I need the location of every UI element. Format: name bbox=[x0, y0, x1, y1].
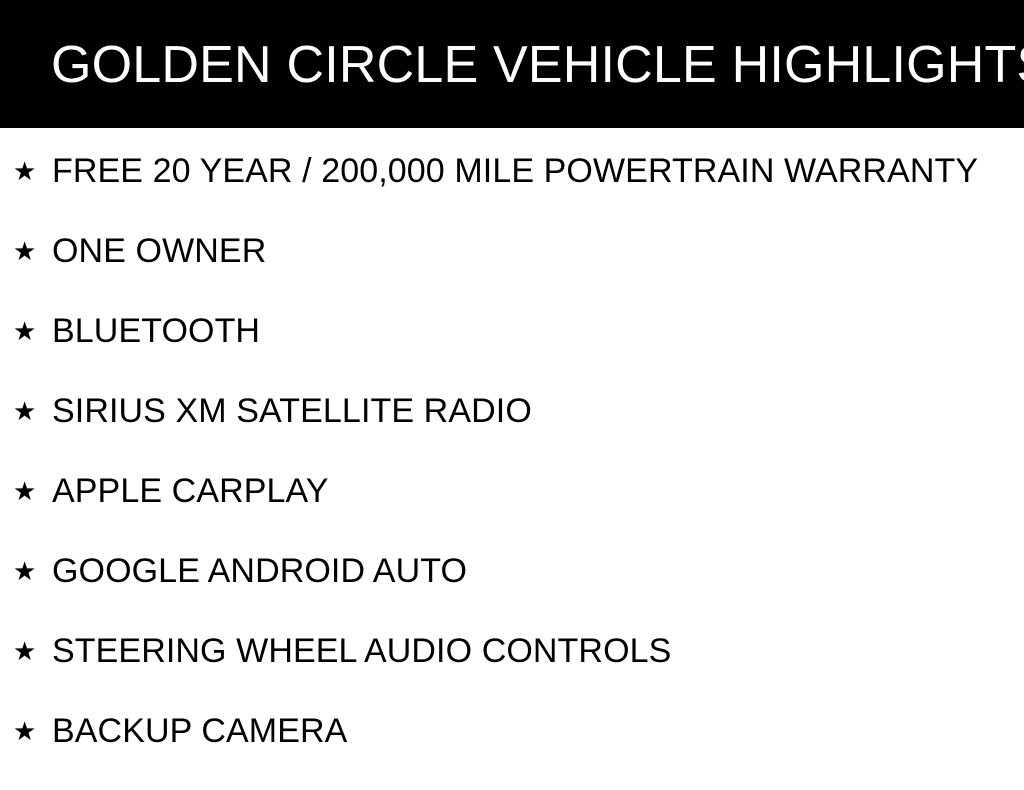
list-item: ★ ONE OWNER bbox=[0, 230, 1024, 272]
star-icon: ★ bbox=[13, 390, 37, 432]
list-item: ★ SIRIUS XM SATELLITE RADIO bbox=[0, 390, 1024, 432]
list-item: ★ FREE 20 YEAR / 200,000 MILE POWERTRAIN… bbox=[0, 150, 1024, 192]
list-item-label: SIRIUS XM SATELLITE RADIO bbox=[52, 390, 1004, 432]
vehicle-highlights-page: GOLDEN CIRCLE VEHICLE HIGHLIGHTS ★ FREE … bbox=[0, 0, 1024, 768]
page-title: GOLDEN CIRCLE VEHICLE HIGHLIGHTS bbox=[51, 36, 1024, 94]
star-icon: ★ bbox=[13, 310, 37, 352]
list-item-label: BACKUP CAMERA bbox=[52, 710, 1004, 752]
star-icon: ★ bbox=[13, 230, 37, 272]
list-item: ★ GOOGLE ANDROID AUTO bbox=[0, 550, 1024, 592]
list-item: ★ BLUETOOTH bbox=[0, 310, 1024, 352]
list-item-label: ONE OWNER bbox=[52, 230, 1004, 272]
star-icon: ★ bbox=[13, 550, 37, 592]
list-item: ★ STEERING WHEEL AUDIO CONTROLS bbox=[0, 630, 1024, 672]
list-item: ★ BACKUP CAMERA bbox=[0, 710, 1024, 752]
star-icon: ★ bbox=[13, 630, 37, 672]
list-item-label: APPLE CARPLAY bbox=[52, 470, 1004, 512]
star-icon: ★ bbox=[13, 150, 37, 192]
list-item-label: BLUETOOTH bbox=[52, 310, 1004, 352]
list-item-label: GOOGLE ANDROID AUTO bbox=[52, 550, 1004, 592]
list-item-label: FREE 20 YEAR / 200,000 MILE POWERTRAIN W… bbox=[52, 150, 1004, 192]
header-banner: GOLDEN CIRCLE VEHICLE HIGHLIGHTS bbox=[0, 0, 1024, 128]
vehicle-highlights-list: ★ FREE 20 YEAR / 200,000 MILE POWERTRAIN… bbox=[0, 128, 1024, 790]
star-icon: ★ bbox=[13, 470, 37, 512]
star-icon: ★ bbox=[13, 710, 37, 752]
list-item: ★ APPLE CARPLAY bbox=[0, 470, 1024, 512]
list-item-label: STEERING WHEEL AUDIO CONTROLS bbox=[52, 630, 1004, 672]
